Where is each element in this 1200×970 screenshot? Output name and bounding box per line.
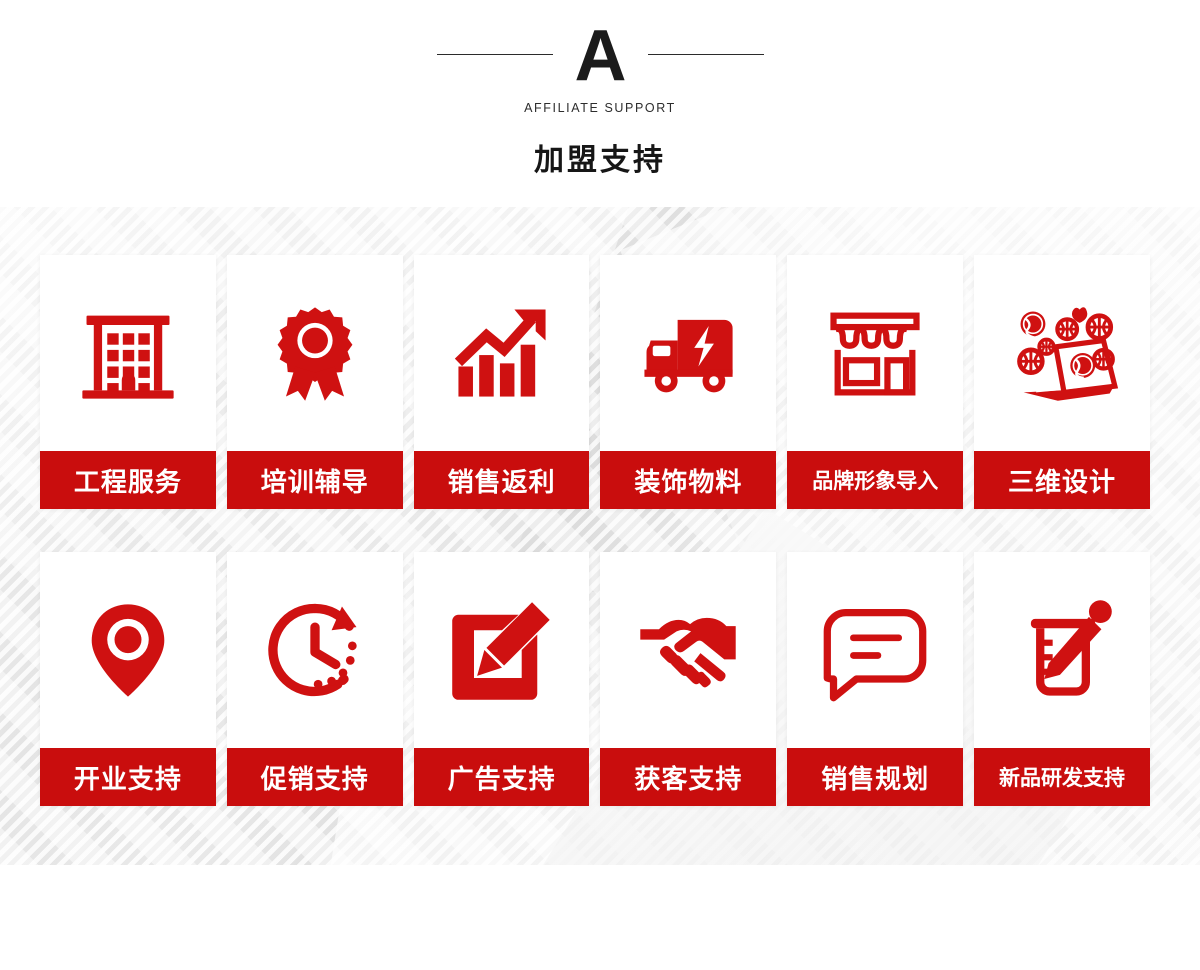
card-label: 销售规划 bbox=[787, 748, 963, 806]
card-icon-area bbox=[414, 255, 590, 451]
card-label: 装饰物料 bbox=[600, 451, 776, 509]
support-card[interactable]: 品牌形象导入 bbox=[787, 255, 963, 509]
card-label: 促销支持 bbox=[227, 748, 403, 806]
growth-chart-icon bbox=[446, 297, 558, 409]
card-label: 广告支持 bbox=[414, 748, 590, 806]
card-label: 销售返利 bbox=[414, 451, 590, 509]
card-label: 品牌形象导入 bbox=[787, 451, 963, 509]
page-title: 加盟支持 bbox=[534, 135, 666, 179]
support-card[interactable]: 销售规划 bbox=[787, 552, 963, 806]
support-card[interactable]: 开业支持 bbox=[40, 552, 216, 806]
building-icon bbox=[72, 297, 184, 409]
support-card[interactable]: 促销支持 bbox=[227, 552, 403, 806]
monogram-letter: A bbox=[575, 23, 626, 89]
support-card-row: 开业支持促销支持广告支持获客支持销售规划新品研发支持 bbox=[40, 552, 1150, 806]
divider-line-right bbox=[648, 54, 764, 55]
location-pin-icon bbox=[72, 594, 184, 706]
support-card-row: 工程服务培训辅导销售返利装饰物料品牌形象导入三维设计 bbox=[40, 255, 1150, 509]
card-label: 开业支持 bbox=[40, 748, 216, 806]
card-icon-area bbox=[600, 552, 776, 748]
header-eyebrow: AFFILIATE SUPPORT bbox=[524, 101, 676, 115]
card-icon-area bbox=[974, 552, 1150, 748]
support-card[interactable]: 三维设计 bbox=[974, 255, 1150, 509]
laptop-globe-icon bbox=[1006, 297, 1118, 409]
support-card[interactable]: 广告支持 bbox=[414, 552, 590, 806]
card-icon-area bbox=[974, 255, 1150, 451]
award-ribbon-icon bbox=[259, 297, 371, 409]
page-header: A AFFILIATE SUPPORT 加盟支持 bbox=[0, 0, 1200, 207]
support-card-grid: 工程服务培训辅导销售返利装饰物料品牌形象导入三维设计开业支持促销支持广告支持获客… bbox=[40, 255, 1150, 806]
support-card[interactable]: 工程服务 bbox=[40, 255, 216, 509]
beaker-pen-icon bbox=[1006, 594, 1118, 706]
card-icon-area bbox=[40, 552, 216, 748]
card-label: 工程服务 bbox=[40, 451, 216, 509]
support-card[interactable]: 销售返利 bbox=[414, 255, 590, 509]
card-icon-area bbox=[40, 255, 216, 451]
handshake-icon bbox=[632, 594, 744, 706]
card-label: 新品研发支持 bbox=[974, 748, 1150, 806]
card-icon-area bbox=[414, 552, 590, 748]
support-card[interactable]: 获客支持 bbox=[600, 552, 776, 806]
support-card[interactable]: 新品研发支持 bbox=[974, 552, 1150, 806]
clock-arrow-icon bbox=[259, 594, 371, 706]
divider-line-left bbox=[437, 54, 553, 55]
card-label: 获客支持 bbox=[600, 748, 776, 806]
card-label: 三维设计 bbox=[974, 451, 1150, 509]
card-icon-area bbox=[787, 552, 963, 748]
textured-background-panel: 工程服务培训辅导销售返利装饰物料品牌形象导入三维设计开业支持促销支持广告支持获客… bbox=[0, 207, 1200, 865]
delivery-truck-icon bbox=[632, 297, 744, 409]
card-icon-area bbox=[227, 552, 403, 748]
support-card[interactable]: 培训辅导 bbox=[227, 255, 403, 509]
card-icon-area bbox=[600, 255, 776, 451]
support-card[interactable]: 装饰物料 bbox=[600, 255, 776, 509]
card-label: 培训辅导 bbox=[227, 451, 403, 509]
card-icon-area bbox=[227, 255, 403, 451]
pencil-square-icon bbox=[446, 594, 558, 706]
monogram-row: A bbox=[0, 18, 1200, 90]
speech-bubble-icon bbox=[819, 594, 931, 706]
card-icon-area bbox=[787, 255, 963, 451]
storefront-icon bbox=[819, 297, 931, 409]
